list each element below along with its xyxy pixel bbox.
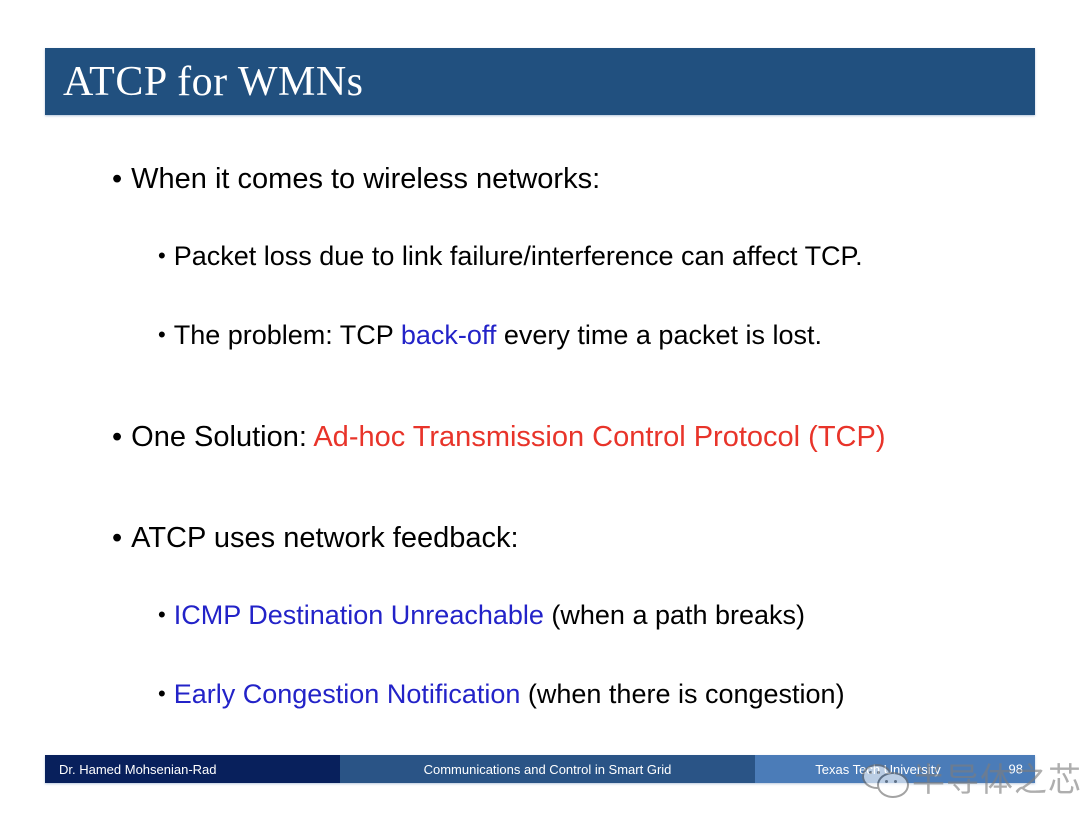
bullet-text: Packet loss due to link failure/interfer… [174,241,863,271]
page-title: ATCP for WMNs [63,61,364,103]
highlight-back-off: back-off [401,320,497,350]
slide-title-bar: ATCP for WMNs [45,48,1035,115]
bullet-text-pre: One Solution: [131,421,313,453]
bullet-level1-when-it-comes: •When it comes to wireless networks: [112,163,600,196]
bullet-marker-icon: • [112,522,122,555]
bullet-text-post: (when a path breaks) [544,600,805,630]
slide-canvas: ATCP for WMNs •When it comes to wireless… [0,0,1080,834]
highlight-early-congestion-notification: Early Congestion Notification [174,679,521,709]
bullet-level2-the-problem: •The problem: TCP back-off every time a … [158,320,822,351]
bullet-text-pre: The problem: TCP [174,320,401,350]
bullet-level2-icmp: •ICMP Destination Unreachable (when a pa… [158,600,805,631]
highlight-icmp-destination-unreachable: ICMP Destination Unreachable [174,600,544,630]
bullet-text: When it comes to wireless networks: [131,163,600,195]
footer-course-title: Communications and Control in Smart Grid [340,755,755,783]
footer-university: Texas Tech University 98 [755,755,1035,783]
bullet-marker-icon: • [112,163,122,196]
bullet-level1-one-solution: •One Solution: Ad-hoc Transmission Contr… [112,421,885,454]
slide-body: •When it comes to wireless networks: •Pa… [0,115,1080,745]
bullet-level1-atcp-feedback: •ATCP uses network feedback: [112,522,519,555]
footer-university-label: Texas Tech University [815,762,940,777]
bullet-text-post: every time a packet is lost. [496,320,822,350]
highlight-atcp-expansion: Ad-hoc Transmission Control Protocol (TC… [313,421,885,453]
bullet-level2-packet-loss: •Packet loss due to link failure/interfe… [158,241,863,272]
footer-author: Dr. Hamed Mohsenian-Rad [45,755,340,783]
bullet-marker-icon: • [158,243,166,269]
bullet-level2-ecn: •Early Congestion Notification (when the… [158,679,845,710]
bullet-marker-icon: • [158,322,166,348]
bullet-text-post: (when there is congestion) [520,679,844,709]
bullet-marker-icon: • [158,681,166,707]
bullet-marker-icon: • [112,421,122,454]
bullet-text: ATCP uses network feedback: [131,522,518,554]
slide-footer: Dr. Hamed Mohsenian-Rad Communications a… [45,755,1035,783]
bullet-marker-icon: • [158,602,166,628]
slide-page-number: 98 [1009,762,1023,777]
